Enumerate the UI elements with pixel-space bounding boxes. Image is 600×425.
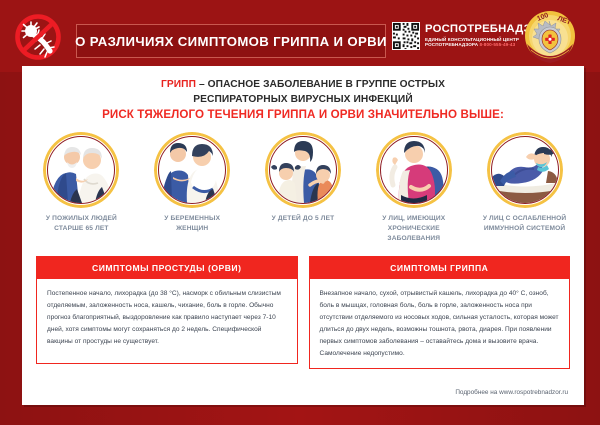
panel-cold-body: Постепенное начало, лихорадка (до 38 °С)… [36, 279, 298, 364]
poster-title-banner: О РАЗЛИЧИЯХ СИМПТОМОВ ГРИППА И ОРВИ [76, 24, 386, 58]
intro-line2: РЕСПИРАТОРНЫХ ВИРУСНЫХ ИНФЕКЦИЙ [193, 94, 413, 105]
caption-line-1: У ЛИЦ С ОСЛАБЛЕННОЙ [483, 215, 567, 222]
panel-cold-text: Постепенное начало, лихорадка (до 38 °С)… [47, 288, 288, 348]
panel-flu-text: Внезапное начало, сухой, отрывистый каше… [320, 288, 561, 359]
risk-group-caption: У ЛИЦ, ИМЕЮЩИХ ХРОНИЧЕСКИЕ ЗАБОЛЕВАНИЯ [362, 214, 466, 244]
risk-group-elderly: У ПОЖИЛЫХ ЛЮДЕЙ СТАРШЕ 65 ЛЕТ [29, 132, 133, 234]
caption-line-1: У ЛИЦ, ИМЕЮЩИХ [382, 215, 445, 222]
intro-lead-rest: – ОПАСНОЕ ЗАБОЛЕВАНИЕ В ГРУППЕ ОСТРЫХ [196, 79, 445, 90]
qr-code-icon[interactable] [392, 22, 420, 50]
ring-outer-border [376, 132, 452, 208]
risk-group-circle [154, 132, 230, 208]
caption-line-1: У БЕРЕМЕННЫХ [164, 215, 220, 222]
ring-outer-border [154, 132, 230, 208]
poster-root: О РАЗЛИЧИЯХ СИМПТОМОВ ГРИППА И ОРВИ [0, 0, 600, 425]
caption-line-2: ИММУННОЙ СИСТЕМОЙ [484, 225, 566, 232]
risk-group-pregnant: У БЕРЕМЕННЫХ ЖЕНЩИН [140, 132, 244, 234]
ring-outer-border [43, 132, 119, 208]
rospotrebnadzor-100-years-emblem-icon: 100 ЛЕТ [518, 8, 582, 68]
caption-line-2: ХРОНИЧЕСКИЕ ЗАБОЛЕВАНИЯ [387, 225, 440, 242]
risk-group-circle [487, 132, 563, 208]
risk-group-caption: У ЛИЦ С ОСЛАБЛЕННОЙ ИММУННОЙ СИСТЕМОЙ [483, 214, 567, 234]
hotline-phone[interactable]: 8-800-555-49-43 [480, 42, 516, 47]
poster-header: О РАЗЛИЧИЯХ СИМПТОМОВ ГРИППА И ОРВИ [0, 0, 600, 72]
caption-line-2: ЖЕНЩИН [176, 225, 208, 232]
risk-group-caption: У ДЕТЕЙ ДО 5 ЛЕТ [272, 214, 335, 224]
no-virus-prohibition-icon [9, 13, 67, 61]
caption-line-2: СТАРШЕ 65 ЛЕТ [54, 225, 108, 232]
ring-outer-border [265, 132, 341, 208]
risk-group-children: У ДЕТЕЙ ДО 5 ЛЕТ [251, 132, 355, 224]
risk-group-circle [265, 132, 341, 208]
risk-group-chronic: У ЛИЦ, ИМЕЮЩИХ ХРОНИЧЕСКИЕ ЗАБОЛЕВАНИЯ [362, 132, 466, 244]
footer-note[interactable]: Подробнее на www.rospotrebnadzor.ru [455, 389, 568, 396]
symptom-panels: СИМПТОМЫ ПРОСТУДЫ (ОРВИ) Постепенное нач… [36, 256, 570, 369]
risk-group-caption: У ПОЖИЛЫХ ЛЮДЕЙ СТАРШЕ 65 ЛЕТ [46, 214, 117, 234]
panel-cold-header: СИМПТОМЫ ПРОСТУДЫ (ОРВИ) [36, 256, 298, 279]
intro-lead-word: ГРИПП [161, 79, 196, 90]
page-title: О РАЗЛИЧИЯХ СИМПТОМОВ ГРИППА И ОРВИ [75, 34, 387, 49]
panel-cold-symptoms: СИМПТОМЫ ПРОСТУДЫ (ОРВИ) Постепенное нач… [36, 256, 298, 369]
org-subtitle-text: РОСПОТРЕБНАДЗОРА [425, 42, 478, 47]
panel-flu-header: СИМПТОМЫ ГРИППА [309, 256, 571, 279]
intro-headline: ГРИПП – ОПАСНОЕ ЗАБОЛЕВАНИЕ В ГРУППЕ ОСТ… [22, 78, 584, 108]
risk-group-immunity: У ЛИЦ С ОСЛАБЛЕННОЙ ИММУННОЙ СИСТЕМОЙ [473, 132, 577, 234]
caption-line-1: У ДЕТЕЙ ДО 5 ЛЕТ [272, 215, 335, 222]
panel-flu-title: СИМПТОМЫ ГРИППА [390, 263, 488, 273]
panel-flu-symptoms: СИМПТОМЫ ГРИППА Внезапное начало, сухой,… [309, 256, 571, 369]
risk-group-circle [376, 132, 452, 208]
risk-groups-row: У ПОЖИЛЫХ ЛЮДЕЙ СТАРШЕ 65 ЛЕТ [26, 132, 580, 244]
caption-line-1: У ПОЖИЛЫХ ЛЮДЕЙ [46, 215, 117, 222]
content-card: ГРИПП – ОПАСНОЕ ЗАБОЛЕВАНИЕ В ГРУППЕ ОСТ… [22, 66, 584, 405]
risk-group-caption: У БЕРЕМЕННЫХ ЖЕНЩИН [164, 214, 220, 234]
risk-headline: РИСК ТЯЖЕЛОГО ТЕЧЕНИЯ ГРИППА И ОРВИ ЗНАЧ… [22, 108, 584, 121]
panel-cold-title: СИМПТОМЫ ПРОСТУДЫ (ОРВИ) [92, 263, 241, 273]
panel-flu-body: Внезапное начало, сухой, отрывистый каше… [309, 279, 571, 369]
risk-group-circle [43, 132, 119, 208]
ring-outer-border [487, 132, 563, 208]
